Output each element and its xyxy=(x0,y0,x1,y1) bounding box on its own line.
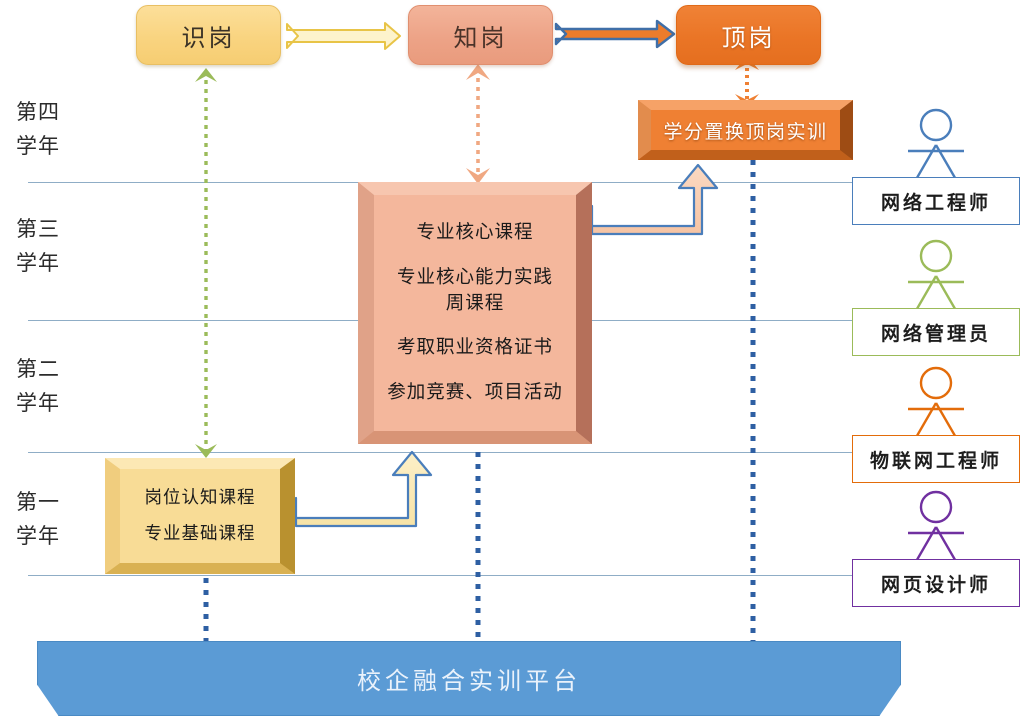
core-curriculum-box[interactable]: 专业核心课程 专业核心能力实践 周课程 考取职业资格证书 参加竞赛、项目活动 xyxy=(358,182,592,444)
core-curriculum-line-3: 周课程 xyxy=(446,291,505,317)
actor-label-network-engineer-text: 网络工程师 xyxy=(881,188,991,215)
platform-banner-label: 校企融合实训平台 xyxy=(357,661,581,696)
core-curriculum-line-5: 参加竞赛、项目活动 xyxy=(387,380,563,406)
elbow-base-to-core xyxy=(296,452,431,526)
year-label-second: 第二 学年 xyxy=(16,352,60,420)
stage-pill-dinggang[interactable]: 顶岗 xyxy=(676,5,821,65)
actor-label-web-designer[interactable]: 网页设计师 xyxy=(852,559,1020,607)
stage-pill-zhigang-label: 知岗 xyxy=(454,18,508,53)
person-icon-iot-engineer xyxy=(852,363,1020,441)
actor-label-web-designer-text: 网页设计师 xyxy=(881,570,991,597)
actor-label-network-engineer[interactable]: 网络工程师 xyxy=(852,177,1020,225)
link-zhigang-core xyxy=(466,64,490,184)
actor-iot-engineer[interactable]: 物联网工程师 xyxy=(852,363,1020,483)
credit-conversion-box[interactable]: 学分置换顶岗实训 xyxy=(638,100,853,160)
core-curriculum-face: 专业核心课程 专业核心能力实践 周课程 考取职业资格证书 参加竞赛、项目活动 xyxy=(358,182,592,444)
platform-banner[interactable]: 校企融合实训平台 xyxy=(37,641,901,716)
actor-label-network-admin-text: 网络管理员 xyxy=(881,319,991,346)
credit-conversion-label: 学分置换顶岗实训 xyxy=(663,117,827,144)
core-curriculum-line-1: 专业核心课程 xyxy=(416,220,533,246)
year-label-third: 第三 学年 xyxy=(16,212,60,280)
actor-network-engineer[interactable]: 网络工程师 xyxy=(852,105,1020,225)
base-curriculum-line-1: 岗位认知课程 xyxy=(145,487,256,509)
stage-pill-zhigang[interactable]: 知岗 xyxy=(408,5,553,65)
person-icon-web-designer xyxy=(852,487,1020,565)
core-curriculum-line-2: 专业核心能力实践 xyxy=(397,265,553,291)
person-icon-network-engineer xyxy=(852,105,1020,183)
arrow-shigang-to-zhigang xyxy=(287,23,400,49)
arrow-zhigang-to-dinggang xyxy=(556,21,674,47)
base-curriculum-line-2: 专业基础课程 xyxy=(145,523,256,545)
year-label-first: 第一 学年 xyxy=(16,485,60,553)
actor-web-designer[interactable]: 网页设计师 xyxy=(852,487,1020,607)
core-curriculum-line-4: 考取职业资格证书 xyxy=(397,335,553,361)
stage-pill-shigang[interactable]: 识岗 xyxy=(136,5,281,65)
credit-conversion-face: 学分置换顶岗实训 xyxy=(638,100,853,160)
stage-pill-dinggang-label: 顶岗 xyxy=(722,18,776,53)
elbow-core-to-credit xyxy=(592,165,717,234)
year-label-fourth: 第四 学年 xyxy=(16,95,60,163)
actor-label-iot-engineer[interactable]: 物联网工程师 xyxy=(852,435,1020,483)
actor-label-network-admin[interactable]: 网络管理员 xyxy=(852,308,1020,356)
person-icon-network-admin xyxy=(852,236,1020,314)
stage-pill-shigang-label: 识岗 xyxy=(182,18,236,53)
base-curriculum-face: 岗位认知课程 专业基础课程 xyxy=(105,458,295,574)
diagram-canvas: 第四 学年 第三 学年 第二 学年 第一 学年 xyxy=(0,0,1025,721)
link-shigang-base xyxy=(195,68,217,458)
base-curriculum-box[interactable]: 岗位认知课程 专业基础课程 xyxy=(105,458,295,574)
actor-network-admin[interactable]: 网络管理员 xyxy=(852,236,1020,356)
actor-label-iot-engineer-text: 物联网工程师 xyxy=(870,446,1002,473)
